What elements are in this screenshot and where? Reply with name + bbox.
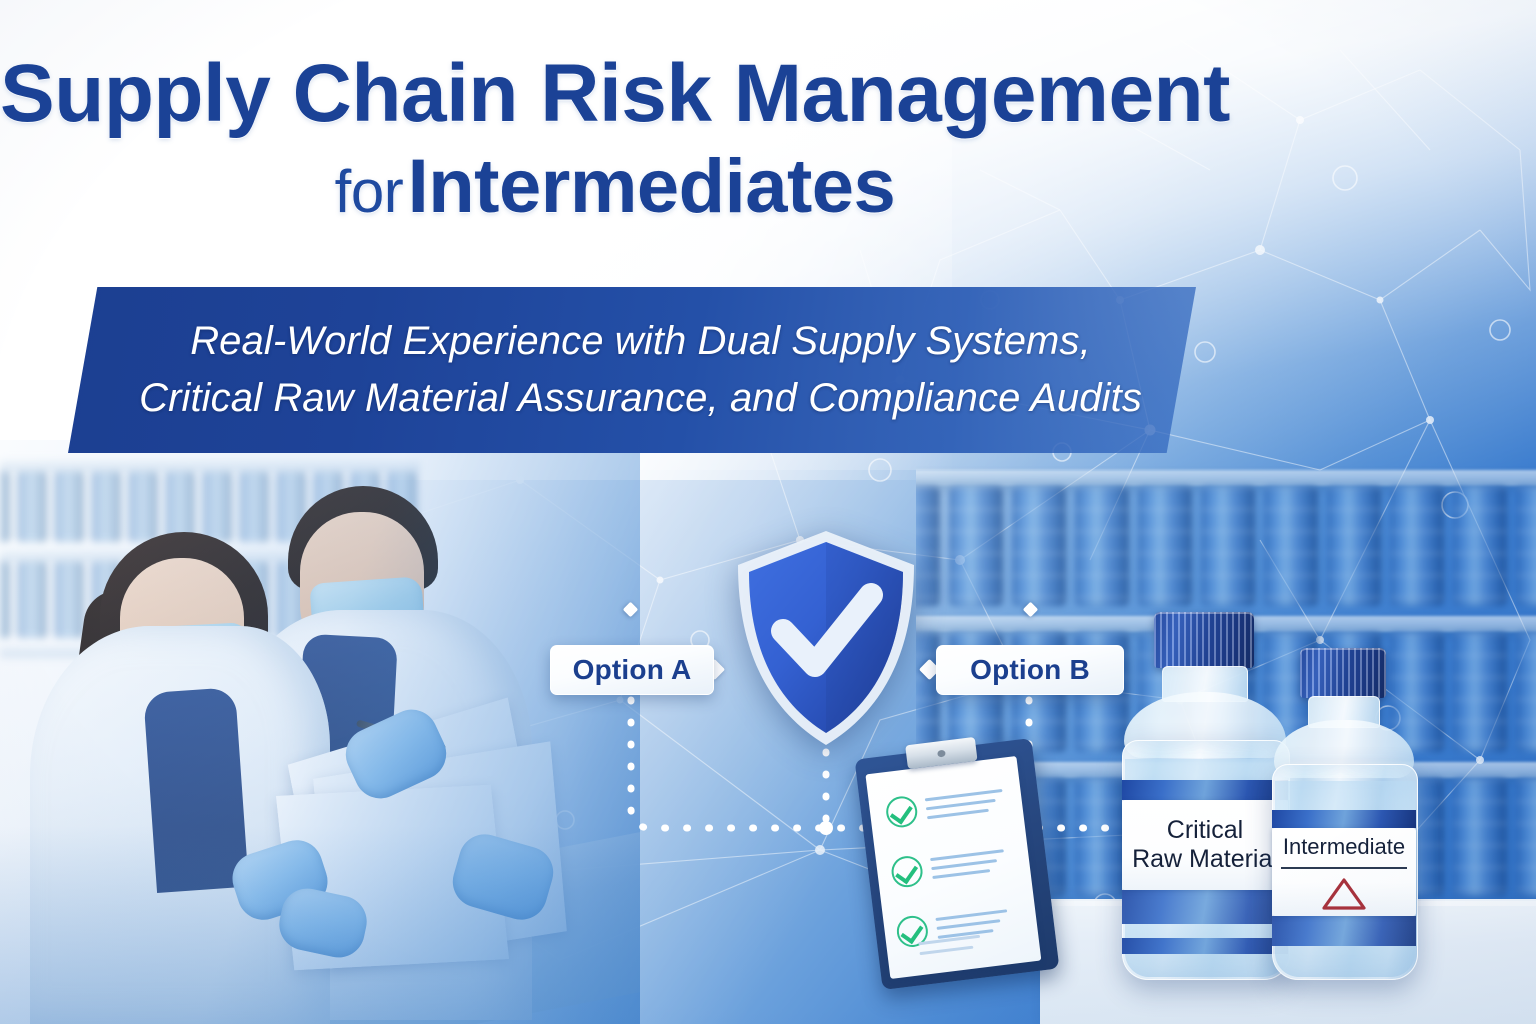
warning-triangle-icon: [1321, 875, 1367, 911]
page-title-for-word: for: [335, 158, 404, 225]
checklist-item-lines: [935, 909, 1009, 939]
poster-canvas: Option A Option B: [0, 0, 1536, 1024]
option-a-label: Option A: [573, 654, 692, 686]
checklist-check-icon: [884, 795, 919, 830]
bottle-intermediate: Intermediate: [1268, 648, 1420, 978]
poster-title-block: Supply Chain Risk Management for Interme…: [0, 52, 1230, 225]
bottle-stripe: [1122, 938, 1288, 954]
subtitle-banner-text: Real-World Experience with Dual Supply S…: [68, 287, 1213, 453]
page-title-line1: Supply Chain Risk Management: [0, 52, 1230, 136]
page-title-line2: for Intermediates: [0, 148, 1230, 226]
page-title-intermediates: Intermediates: [408, 144, 896, 229]
checklist-check-icon: [890, 854, 925, 889]
clipboard-checklist-icon: [855, 738, 1060, 990]
bottle-label-line1: Intermediate: [1283, 834, 1405, 860]
option-b-badge[interactable]: Option B: [936, 645, 1124, 695]
subtitle-banner: Real-World Experience with Dual Supply S…: [68, 287, 1196, 453]
bottle-stripe: [1122, 890, 1288, 924]
checklist-item-lines: [930, 849, 1006, 879]
option-b-label: Option B: [970, 654, 1090, 686]
bottle-label-divider: [1281, 867, 1407, 869]
bottle-label-line2: Raw Material: [1132, 845, 1278, 874]
subtitle-line1: Real-World Experience with Dual Supply S…: [190, 319, 1091, 364]
shield-check-icon: [731, 527, 921, 749]
subtitle-line2: Critical Raw Material Assurance, and Com…: [139, 376, 1142, 421]
bottle-cap: [1300, 648, 1386, 698]
bottle-cap: [1154, 612, 1254, 668]
bottle-stripe: [1272, 810, 1416, 828]
bottle-stripe: [1272, 916, 1416, 946]
clipboard-page: [865, 756, 1041, 979]
bottle-stripe: [1122, 780, 1288, 800]
checklist-item-lines: [925, 789, 1005, 819]
bottle-label-critical-raw-material: Critical Raw Material: [1122, 800, 1288, 890]
bottle-label-line1: Critical: [1167, 816, 1243, 845]
bottle-label-intermediate: Intermediate: [1272, 828, 1416, 916]
option-a-badge[interactable]: Option A: [550, 645, 714, 695]
